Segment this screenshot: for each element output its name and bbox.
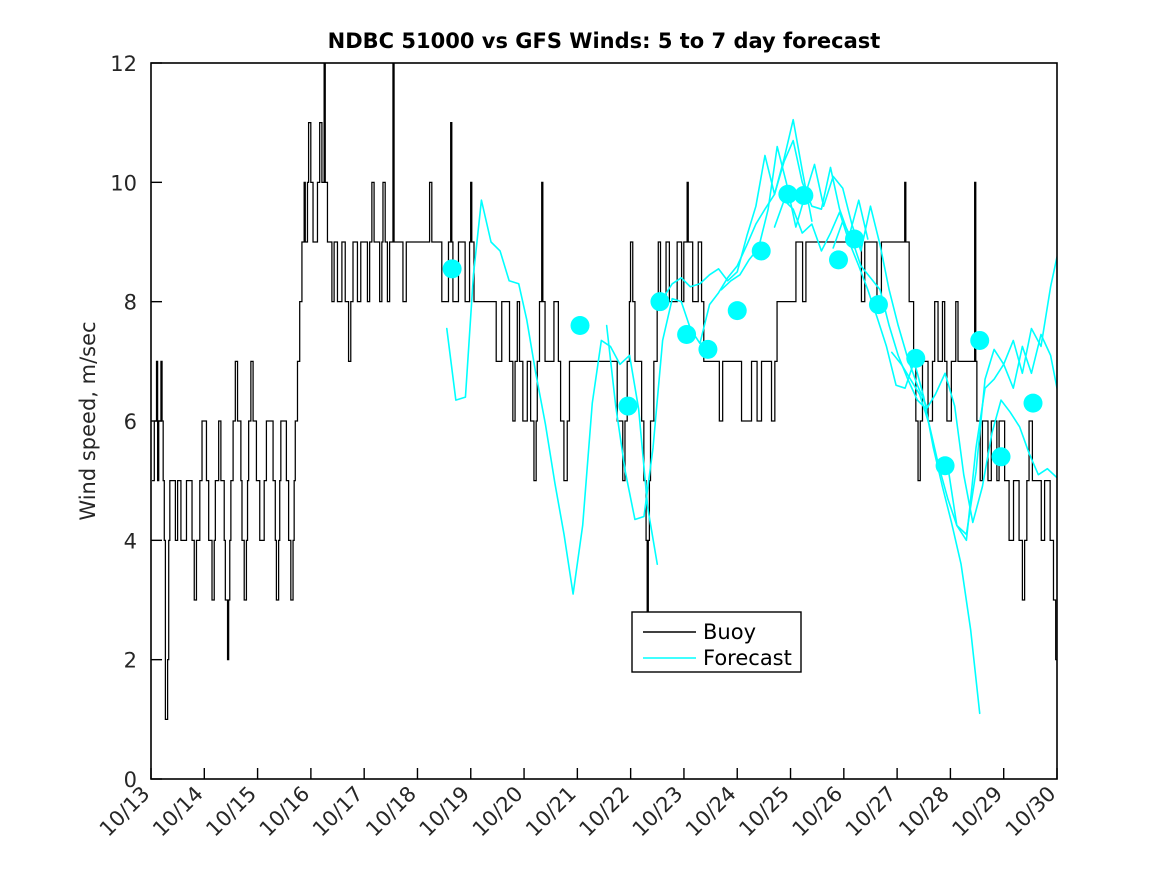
forecast-marker <box>698 340 717 359</box>
forecast-marker <box>936 456 955 475</box>
y-tick-label: 12 <box>110 52 137 76</box>
forecast-marker <box>794 186 813 205</box>
y-tick-label: 4 <box>124 529 137 553</box>
forecast-marker <box>650 292 669 311</box>
forecast-marker <box>571 316 590 335</box>
forecast-marker <box>845 230 864 249</box>
forecast-marker <box>728 301 747 320</box>
forecast-marker <box>970 331 989 350</box>
forecast-marker <box>618 397 637 416</box>
forecast-marker <box>1024 394 1043 413</box>
y-tick-label: 6 <box>124 410 137 434</box>
forecast-marker <box>869 295 888 314</box>
forecast-marker <box>443 259 462 278</box>
y-tick-label: 2 <box>124 649 137 673</box>
forecast-marker <box>677 325 696 344</box>
forecast-marker <box>752 241 771 260</box>
chart-title: NDBC 51000 vs GFS Winds: 5 to 7 day fore… <box>328 29 881 53</box>
chart-svg: NDBC 51000 vs GFS Winds: 5 to 7 day fore… <box>0 0 1167 875</box>
forecast-marker <box>992 447 1011 466</box>
y-tick-label: 8 <box>124 291 137 315</box>
legend[interactable]: Buoy Forecast <box>632 612 801 672</box>
y-tick-label: 10 <box>110 171 137 195</box>
legend-label-buoy: Buoy <box>703 620 756 644</box>
forecast-marker <box>829 250 848 269</box>
legend-label-forecast: Forecast <box>703 646 792 670</box>
y-axis-label: Wind speed, m/sec <box>76 321 100 520</box>
chart-figure: NDBC 51000 vs GFS Winds: 5 to 7 day fore… <box>0 0 1167 875</box>
forecast-marker <box>906 349 925 368</box>
